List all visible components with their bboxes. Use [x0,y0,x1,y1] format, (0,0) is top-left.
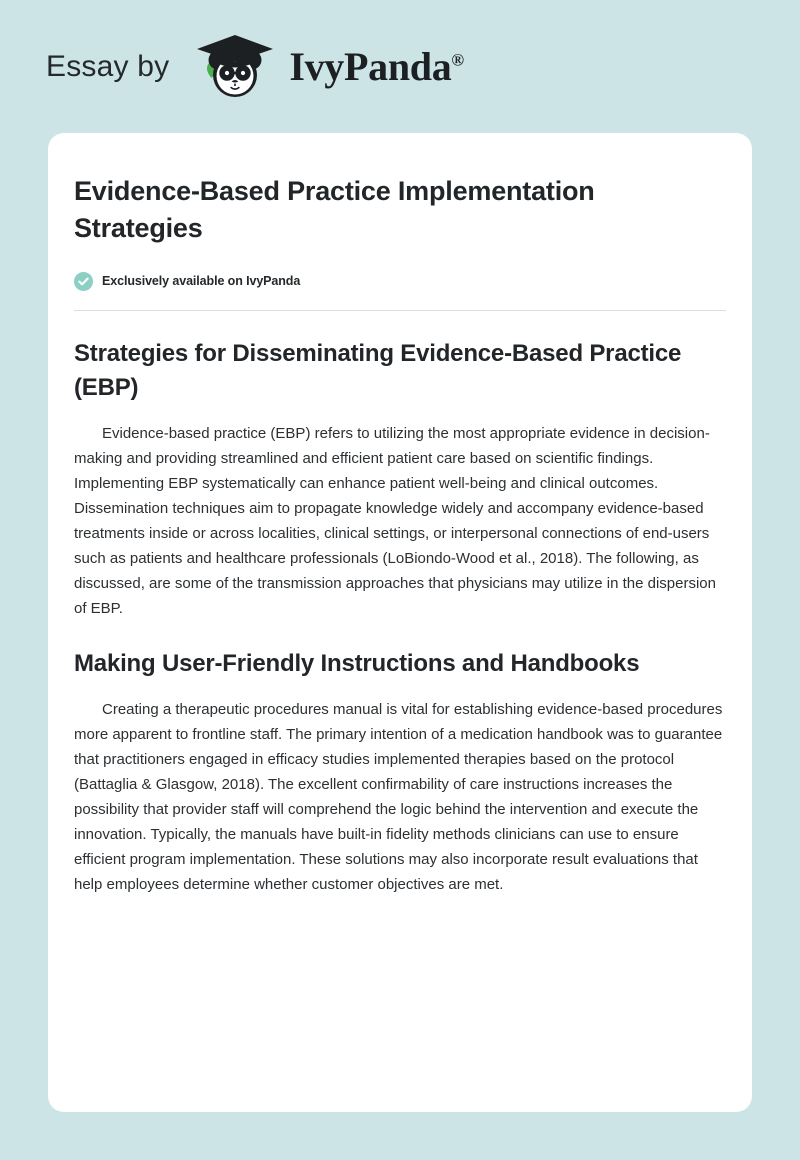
section-heading-1: Strategies for Disseminating Evidence-Ba… [74,337,714,405]
section-paragraph-1: Evidence-based practice (EBP) refers to … [74,421,726,621]
exclusive-badge-label: Exclusively available on IvyPanda [102,274,300,288]
section-heading-2: Making User-Friendly Instructions and Ha… [74,647,714,681]
ivypanda-wordmark: IvyPanda® [289,47,464,87]
ivypanda-brand-lockup[interactable]: IvyPanda® [187,31,464,103]
essay-by-label: Essay by [46,50,169,84]
section-paragraph-2: Creating a therapeutic procedures manual… [74,697,726,897]
header-divider [74,310,726,311]
site-header: Essay by [0,0,800,133]
page-title: Evidence-Based Practice Implementation S… [74,173,604,248]
essay-content: Evidence-Based Practice Implementation S… [74,173,726,897]
brand-name-text: IvyPanda [289,44,451,89]
exclusive-availability-badge: Exclusively available on IvyPanda [74,272,726,291]
registered-trademark-icon: ® [451,50,463,69]
panda-graduate-logo-icon [187,31,283,103]
essay-card: Evidence-Based Practice Implementation S… [48,133,752,1112]
check-circle-icon [74,272,93,291]
